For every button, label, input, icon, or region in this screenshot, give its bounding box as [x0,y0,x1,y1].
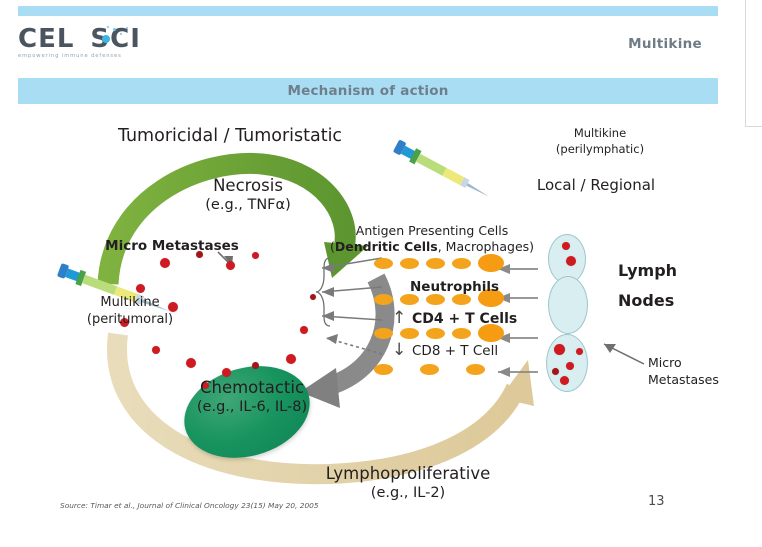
metastasis-dot [286,354,296,364]
metastasis-dot [136,284,145,293]
label-neutrophils: Neutrophils [410,279,499,295]
label-micro-metastases-right-2: Metastases [648,372,719,387]
node-metastasis-dot [560,376,569,385]
metastasis-dot [226,261,235,270]
immune-cell-large [478,254,504,272]
label-cd8-t-cell: CD8 + T Cell [412,343,498,359]
label-cd4-t-cells: CD4 + T Cells [412,311,517,327]
immune-cell [374,364,393,375]
label-lymph: Lymph [618,261,677,280]
immune-cell [426,258,445,269]
immune-cell [374,294,393,305]
node-metastasis-dot [566,362,574,370]
immune-cell [466,364,485,375]
metastasis-dot [152,346,160,354]
logo-spark-icon-3 [107,26,109,28]
label-lymphoproliferative-detail: (e.g., IL-2) [371,485,445,501]
label-antigen-presenting-cells: Antigen Presenting Cells [356,223,508,238]
micro-metastases-pointer-right [604,344,644,364]
slide-title: Mechanism of action [18,83,718,99]
label-multikine-perilymphatic-detail: (perilymphatic) [556,142,644,156]
label-antigen-presenting-cells-detail: (Dendritic Cells, Macrophages) [330,239,534,254]
label-multikine-peritumoral-detail: (peritumoral) [87,312,173,327]
apc-dendritic-bold: Dendritic Cells [335,239,438,254]
source-citation: Source: Timar et al., Journal of Clinica… [60,501,319,510]
node-metastasis-dot [562,242,570,250]
immune-cell [452,328,471,339]
apc-macrophages: , Macrophages) [438,239,534,254]
label-micro-metastases-right: Micro [648,355,682,370]
logo-word-cel: CEL [18,24,74,54]
node-metastasis-dot [566,256,576,266]
metastasis-dot [168,302,178,312]
page-number: 13 [648,494,665,509]
logo-spark-icon-4 [126,27,128,29]
immune-cell [374,258,393,269]
immune-cell [426,328,445,339]
logo-spark-icon-2 [120,33,122,35]
slide-title-band: Mechanism of action [18,78,718,104]
label-lymphoproliferative: Lymphoproliferative [326,464,491,483]
slide: CELSCI empowering immune defenses Multik… [0,0,762,547]
celsci-logo: CELSCI empowering immune defenses [18,26,198,66]
immune-cell [452,294,471,305]
label-necrosis-detail: (e.g., TNFα) [205,197,290,213]
immune-cell [420,364,439,375]
label-tumoricidal: Tumoricidal / Tumoristatic [118,126,342,146]
node-metastasis-dot [554,344,565,355]
tumor-label: Tumor [218,298,278,318]
immune-cell [400,294,419,305]
label-local-regional: Local / Regional [537,176,655,194]
syringe-perilymphatic-icon [392,139,493,202]
immune-cell [400,258,419,269]
metastasis-dot [252,252,259,259]
immune-cell [426,294,445,305]
node-metastasis-dot [552,368,559,375]
top-accent-bar [18,6,718,16]
immune-cell [400,328,419,339]
cd8-down-arrow-icon: ↓ [392,340,406,360]
label-necrosis: Necrosis [213,176,283,195]
label-chemotactic: Chemotactic [200,378,304,397]
label-nodes: Nodes [618,291,674,310]
brand-name-multikine: Multikine [628,36,702,52]
label-micro-metastases-left: Micro Metastases [105,238,239,254]
label-chemotactic-detail: (e.g., IL-6, IL-8) [197,399,307,415]
metastasis-dot [252,362,259,369]
metastasis-dot [222,368,231,377]
label-multikine-peritumoral: Multikine [100,295,159,310]
metastasis-dot [310,294,316,300]
metastasis-dot [186,358,196,368]
node-metastasis-dot [576,348,583,355]
lymph-node [548,276,588,334]
metastasis-dot [300,326,308,334]
label-multikine-perilymphatic: Multikine [574,126,626,140]
logo-spark-icon-1 [113,28,116,31]
immune-cell [452,258,471,269]
logo-tagline: empowering immune defenses [18,53,198,59]
logo-dot-icon [102,35,110,43]
diagram-canvas: Tumor [0,106,762,547]
cd4-up-arrow-icon: ↑ [392,308,406,328]
metastasis-dot [160,258,170,268]
immune-cell [374,328,393,339]
